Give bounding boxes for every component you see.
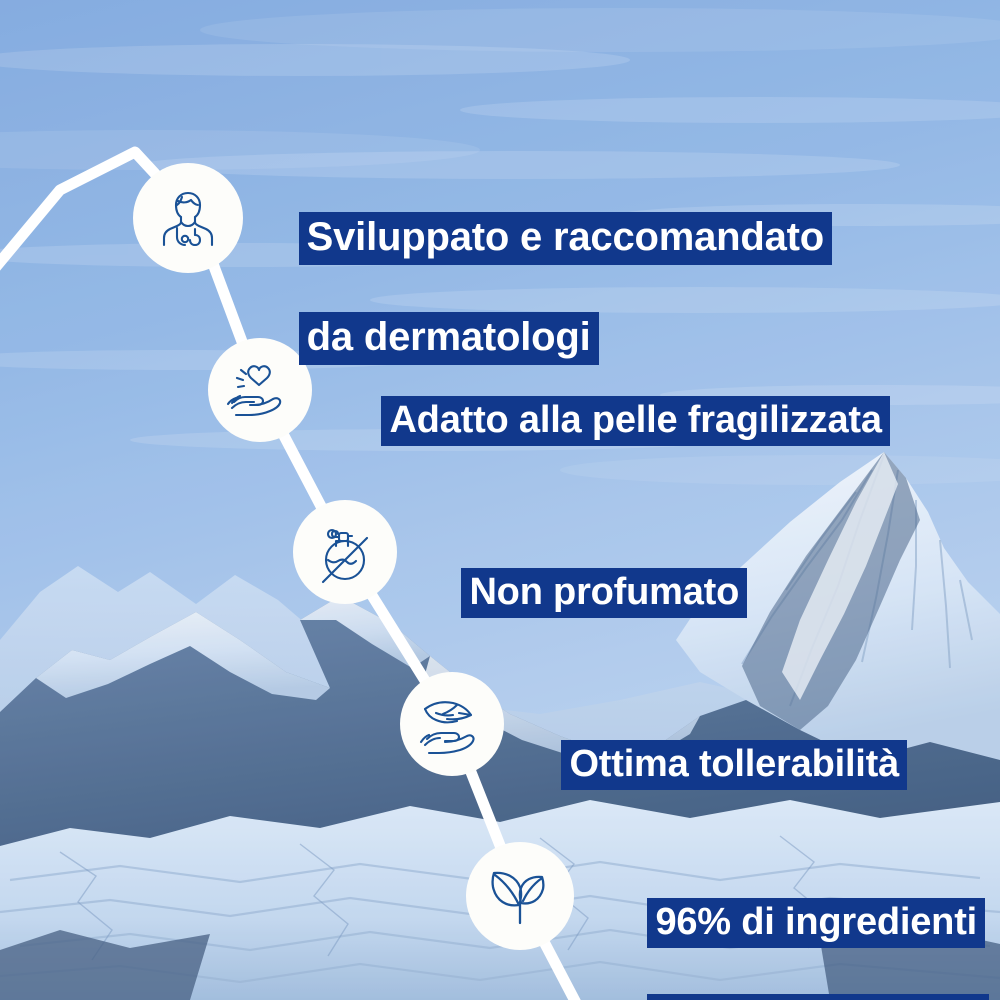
feather-on-hand-icon [415, 687, 489, 761]
feature-bubble-dermatologist[interactable] [133, 163, 243, 273]
feature-label-line: Ottima tollerabilità [561, 740, 907, 791]
feature-label-line: Non profumato [461, 568, 747, 619]
feature-label-line: Sviluppato e raccomandato [299, 212, 832, 265]
feature-bubble-natural-origin[interactable] [466, 842, 574, 950]
feature-bubble-fragrance-free[interactable] [293, 500, 397, 604]
feature-label-fragile-skin: Adatto alla pelle fragilizzata [340, 353, 890, 492]
feature-label-natural-origin: 96% di ingredienti di origine naturale [606, 855, 989, 1000]
feature-label-tolerance: Ottima tollerabilità [520, 697, 907, 836]
feature-label-line: Adatto alla pelle fragilizzata [381, 396, 889, 447]
promo-image: Sviluppato e raccomandato da dermatologi… [0, 0, 1000, 1000]
feature-label-line: 96% di ingredienti [647, 898, 985, 949]
doctor-stethoscope-icon [151, 181, 225, 255]
no-perfume-icon [309, 516, 381, 588]
feature-label-fragrance-free: Non profumato [420, 525, 747, 664]
feature-bubble-tolerance[interactable] [400, 672, 504, 776]
feature-label-line: di origine naturale [647, 994, 989, 1000]
two-leaves-plant-icon [483, 859, 557, 933]
